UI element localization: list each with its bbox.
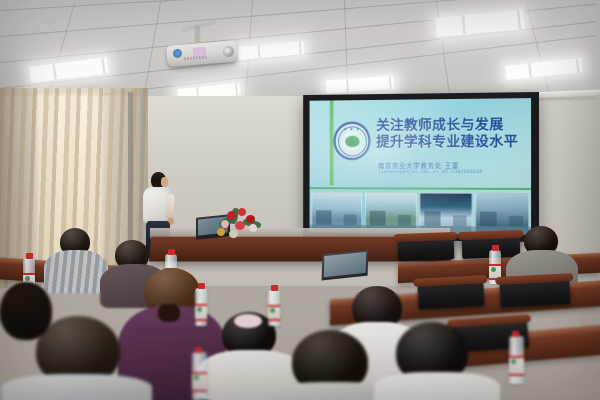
water-bottle <box>509 336 524 384</box>
attendee-hair-tie <box>158 304 180 322</box>
presenter-face <box>161 177 168 187</box>
screen-glare <box>310 98 532 235</box>
water-bottle <box>268 290 280 326</box>
attendee-body <box>374 372 500 400</box>
projection-screen: ★ ★ ★ 关注教师成长与发展 提升学科专业建设水平 南京农业大学教务处 王雷 … <box>303 92 539 242</box>
attendee-body <box>44 250 108 294</box>
laptop <box>322 250 369 281</box>
audience-chair <box>417 280 484 309</box>
hair-bow-icon <box>234 314 262 328</box>
audience-chair <box>398 237 455 261</box>
projector-vent <box>184 56 206 61</box>
projector-lens-icon <box>223 46 235 58</box>
water-bottle <box>192 352 207 400</box>
projector-badge-icon <box>173 49 183 59</box>
projector-mount-stem <box>196 26 199 44</box>
attendee-body <box>2 374 152 400</box>
audience-chair <box>499 278 570 308</box>
flower-arrangement <box>215 202 267 242</box>
lecture-hall-photo: ★ ★ ★ 关注教师成长与发展 提升学科专业建设水平 南京农业大学教务处 王雷 … <box>0 0 600 400</box>
attendee-head <box>0 282 52 340</box>
water-bottle <box>195 288 207 326</box>
slide-surface: ★ ★ ★ 关注教师成长与发展 提升学科专业建设水平 南京农业大学教务处 王雷 … <box>310 98 532 235</box>
